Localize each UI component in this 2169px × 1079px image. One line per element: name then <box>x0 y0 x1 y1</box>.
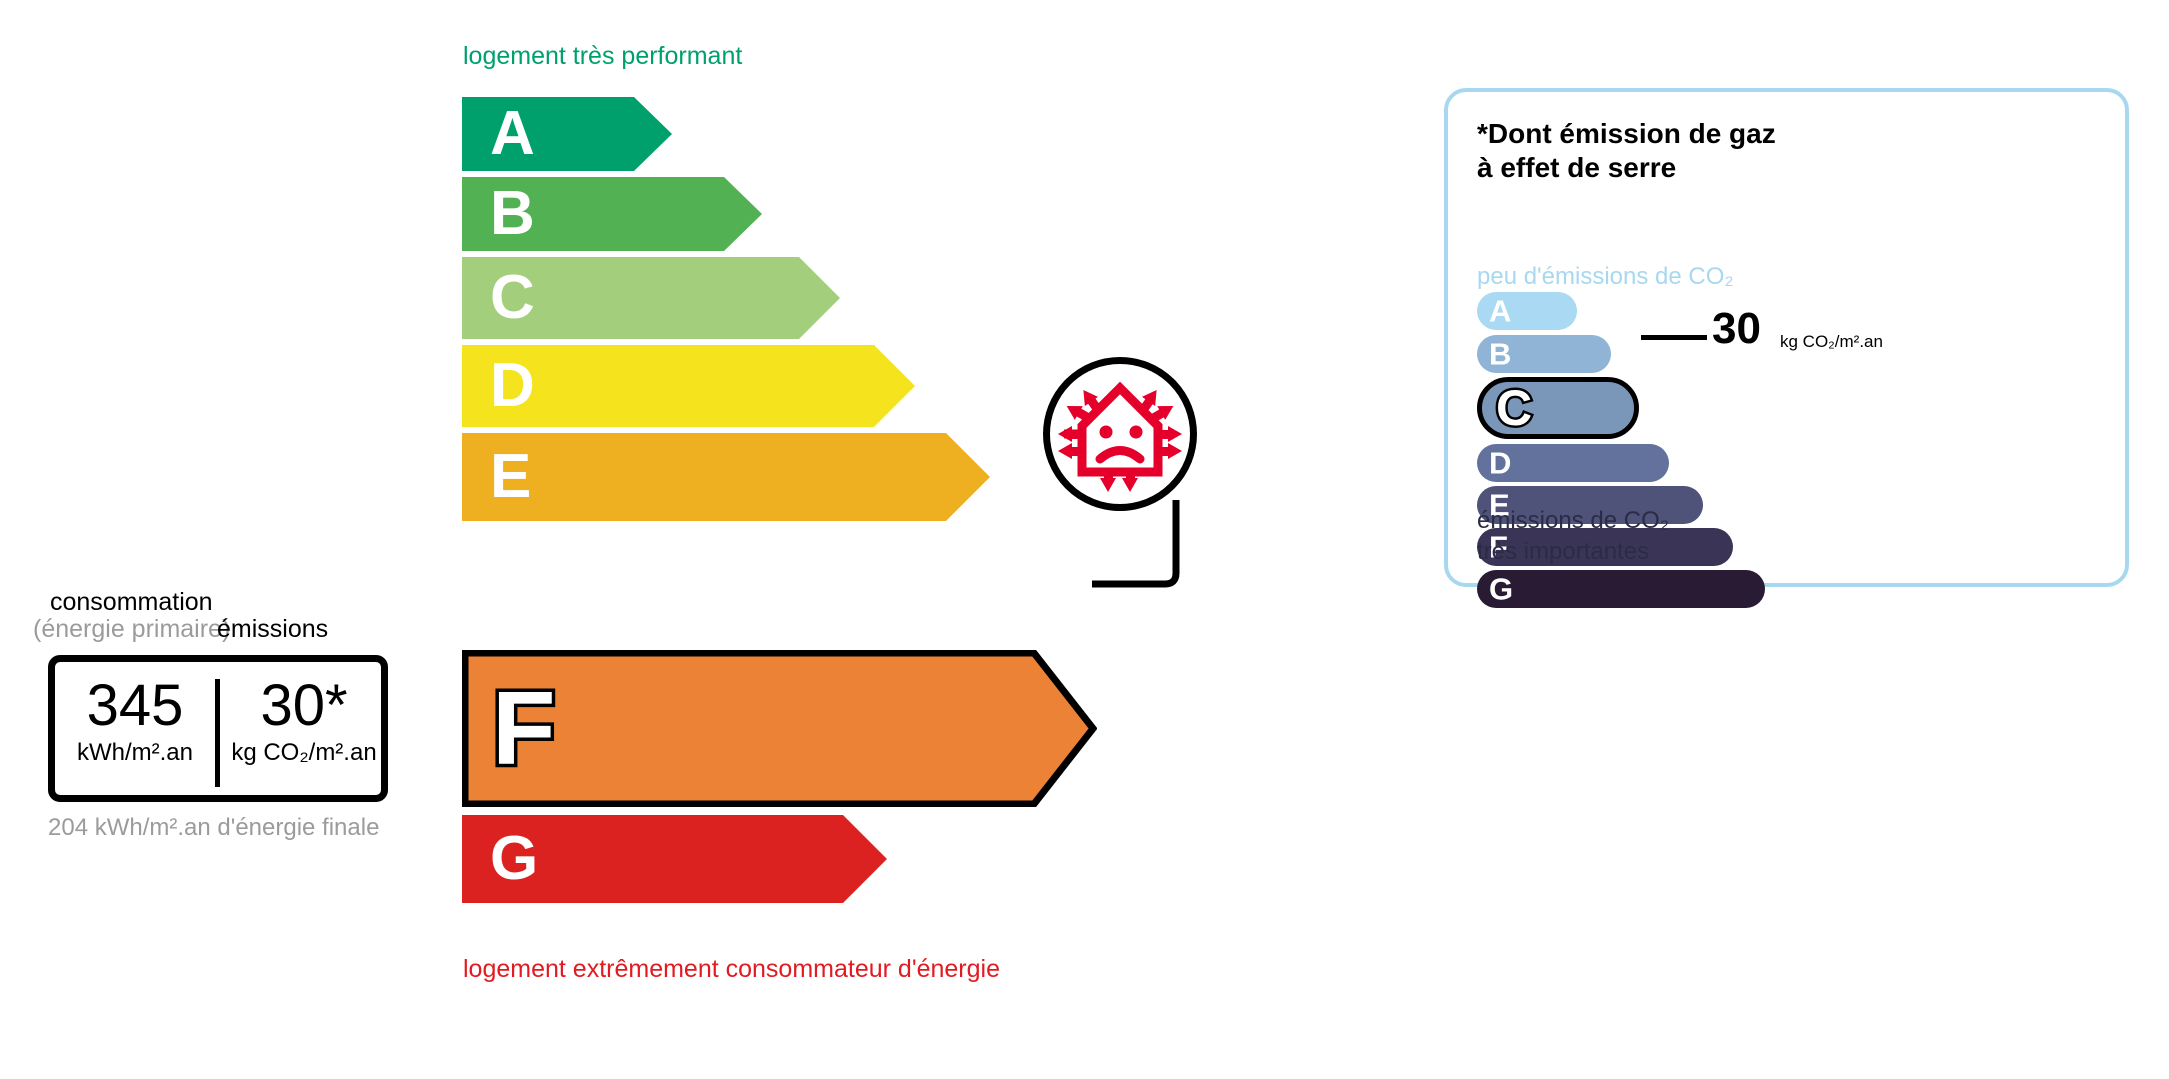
co2-row-a: A <box>1477 292 1577 330</box>
energy-arrow-f: F <box>462 650 1097 807</box>
energy-letter-e: E <box>490 446 531 508</box>
label-emissions: émissions <box>217 615 328 644</box>
emission-value: 30* <box>220 676 388 737</box>
label-consommation: consommation <box>50 588 213 617</box>
energy-arrow-d: D <box>462 345 915 427</box>
energy-arrow-e: E <box>462 433 990 521</box>
energy-letter-b: B <box>490 183 535 245</box>
energy-row-f-selected: F <box>462 650 1097 807</box>
emission-cell: 30* kg CO₂/m².an <box>220 676 388 767</box>
scale-bottom-caption: logement extrêmement consommateur d'éner… <box>463 955 1000 984</box>
sad-house-heat-loss-icon <box>1050 364 1190 504</box>
energy-arrow-a: A <box>462 97 672 171</box>
energy-letter-g: G <box>490 828 538 890</box>
co2-letter-a: A <box>1489 296 1511 327</box>
energy-letter-c: C <box>490 267 535 329</box>
emission-unit: kg CO₂/m².an <box>220 739 388 767</box>
badge-connector-line <box>1090 500 1200 590</box>
co2-bar-c: C <box>1477 377 1639 439</box>
co2-bar-b: B <box>1477 335 1611 373</box>
label-energie-primaire: (énergie primaire) <box>33 615 230 644</box>
energy-letter-f: F <box>492 677 556 781</box>
consumption-cell: 345 kWh/m².an <box>55 676 215 767</box>
co2-callout-unit: kg CO₂/m².an <box>1780 332 1883 352</box>
energy-row-e: E <box>462 433 990 521</box>
co2-letter-c: C <box>1496 383 1532 433</box>
energy-arrow-g: G <box>462 815 887 903</box>
energy-row-g: G <box>462 815 887 903</box>
energy-row-c: C <box>462 257 840 339</box>
consumption-value: 345 <box>55 676 215 737</box>
energy-row-a: A <box>462 97 672 171</box>
co2-bar-g: G <box>1477 570 1765 608</box>
scale-top-caption: logement très performant <box>463 42 742 71</box>
co2-row-c-selected: C <box>1477 377 1639 439</box>
consumption-values-box: 345 kWh/m².an 30* kg CO₂/m².an <box>48 655 388 802</box>
co2-row-g: G <box>1477 570 1765 608</box>
co2-letter-b: B <box>1489 339 1511 370</box>
energy-row-d: D <box>462 345 915 427</box>
energy-letter-a: A <box>490 103 535 165</box>
co2-bar-a: A <box>1477 292 1577 330</box>
energy-arrow-c: C <box>462 257 840 339</box>
sad-house-badge <box>1043 357 1197 511</box>
energy-arrow-b: B <box>462 177 762 251</box>
consumption-unit: kWh/m².an <box>55 739 215 767</box>
energy-row-b: B <box>462 177 762 251</box>
energy-performance-scale: logement très performant A B C <box>0 0 1300 1079</box>
co2-letter-d: D <box>1489 448 1511 479</box>
co2-bottom-caption: émissions de CO₂ très importantes <box>1477 505 1669 567</box>
label-energie-finale: 204 kWh/m².an d'énergie finale <box>48 812 379 844</box>
co2-callout-leader-line <box>1641 335 1707 340</box>
co2-top-caption: peu d'émissions de CO₂ <box>1477 263 1734 291</box>
co2-row-d: D <box>1477 444 1669 482</box>
energy-letter-d: D <box>490 355 535 417</box>
co2-panel-title: *Dont émission de gaz à effet de serre <box>1477 117 1776 185</box>
co2-bar-d: D <box>1477 444 1669 482</box>
co2-letter-g: G <box>1489 574 1513 605</box>
co2-emissions-panel: *Dont émission de gaz à effet de serre p… <box>1444 88 2129 587</box>
co2-callout-value: 30 <box>1712 307 1761 351</box>
co2-row-b: B <box>1477 335 1611 373</box>
